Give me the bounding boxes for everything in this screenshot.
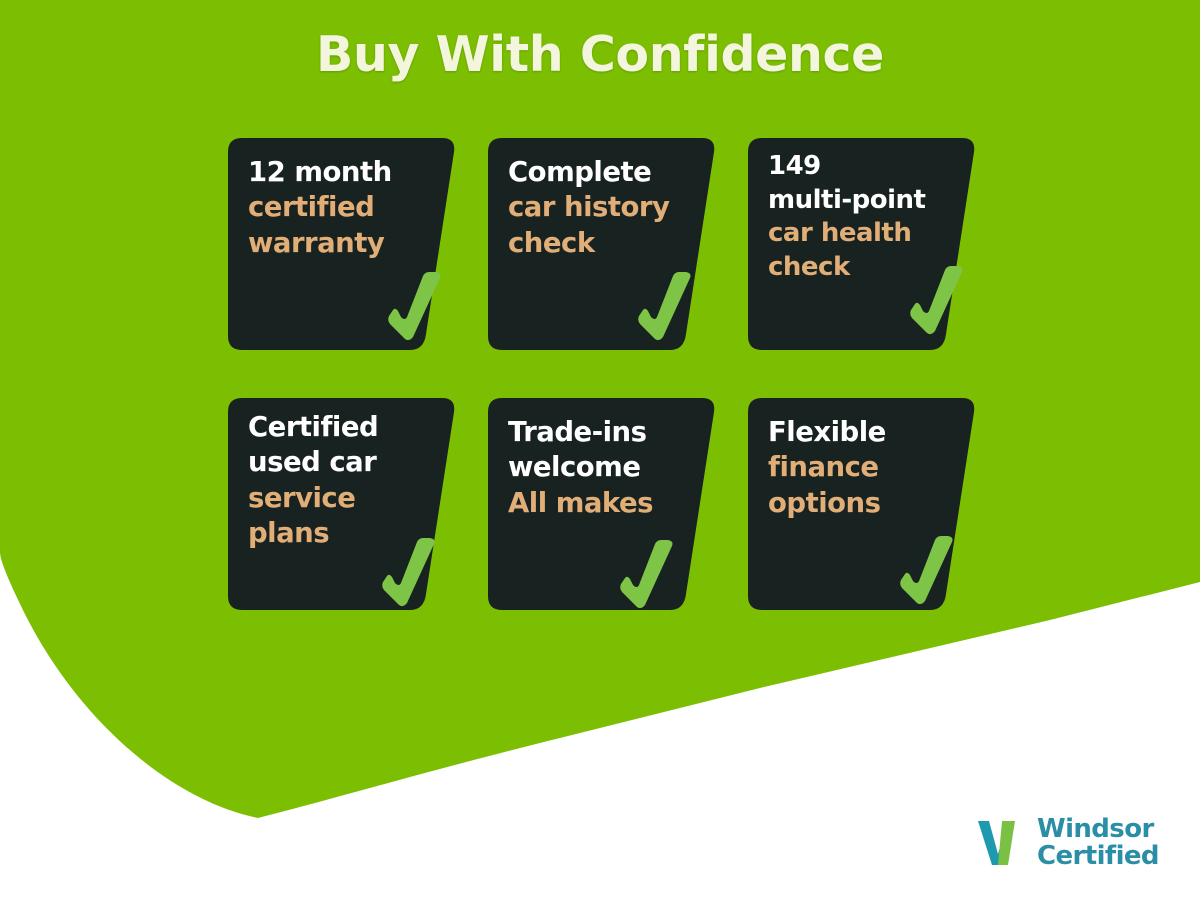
logo-line-windsor: Windsor [1037, 816, 1159, 843]
check-icon [386, 272, 442, 342]
card-line: welcome [508, 450, 736, 485]
benefit-card-car-health-check[interactable]: 149 multi-point car health check [748, 138, 996, 350]
card-text: Complete car history check [488, 138, 736, 350]
check-icon [636, 272, 692, 342]
check-icon [380, 538, 436, 608]
card-line: finance [768, 450, 996, 485]
check-icon [618, 540, 674, 610]
logo-line-certified: Certified [1037, 843, 1159, 870]
card-line: options [768, 486, 996, 521]
brand-logo[interactable]: Windsor Certified [976, 810, 1166, 876]
benefit-card-trade-ins[interactable]: Trade-ins welcome All makes [488, 398, 736, 610]
card-line: 149 [768, 150, 996, 184]
card-line: Trade-ins [508, 415, 736, 450]
check-icon [908, 266, 964, 336]
card-line: service [248, 481, 476, 516]
benefit-card-car-history-check[interactable]: Complete car history check [488, 138, 736, 350]
card-line: Flexible [768, 415, 996, 450]
card-text: Trade-ins welcome All makes [488, 398, 736, 610]
card-text: Certified used car service plans [228, 398, 476, 610]
card-line: plans [248, 516, 476, 551]
card-row-1: 12 month certified warranty Complete car… [228, 138, 980, 398]
card-line: check [508, 226, 736, 261]
card-line: All makes [508, 486, 736, 521]
check-icon [898, 536, 954, 606]
card-line: certified [248, 190, 476, 225]
windsor-w-mark-icon [976, 818, 1028, 868]
card-line: car history [508, 190, 736, 225]
card-row-2: Certified used car service plans Trade-i… [228, 398, 980, 658]
poster-canvas: Buy With Confidence 12 month certified w… [0, 0, 1200, 900]
card-line: multi-point [768, 184, 996, 218]
card-line: 12 month [248, 155, 476, 190]
benefit-card-service-plans[interactable]: Certified used car service plans [228, 398, 476, 610]
card-text: Flexible finance options [748, 398, 996, 610]
benefit-card-grid: 12 month certified warranty Complete car… [228, 138, 980, 658]
card-line: used car [248, 445, 476, 480]
card-line: warranty [248, 226, 476, 261]
card-line: Certified [248, 410, 476, 445]
benefit-card-finance-options[interactable]: Flexible finance options [748, 398, 996, 610]
logo-wordmark: Windsor Certified [1037, 816, 1159, 869]
card-line: Complete [508, 155, 736, 190]
benefit-card-certified-warranty[interactable]: 12 month certified warranty [228, 138, 476, 350]
card-line: car health [768, 217, 996, 251]
page-title: Buy With Confidence [0, 26, 1200, 83]
